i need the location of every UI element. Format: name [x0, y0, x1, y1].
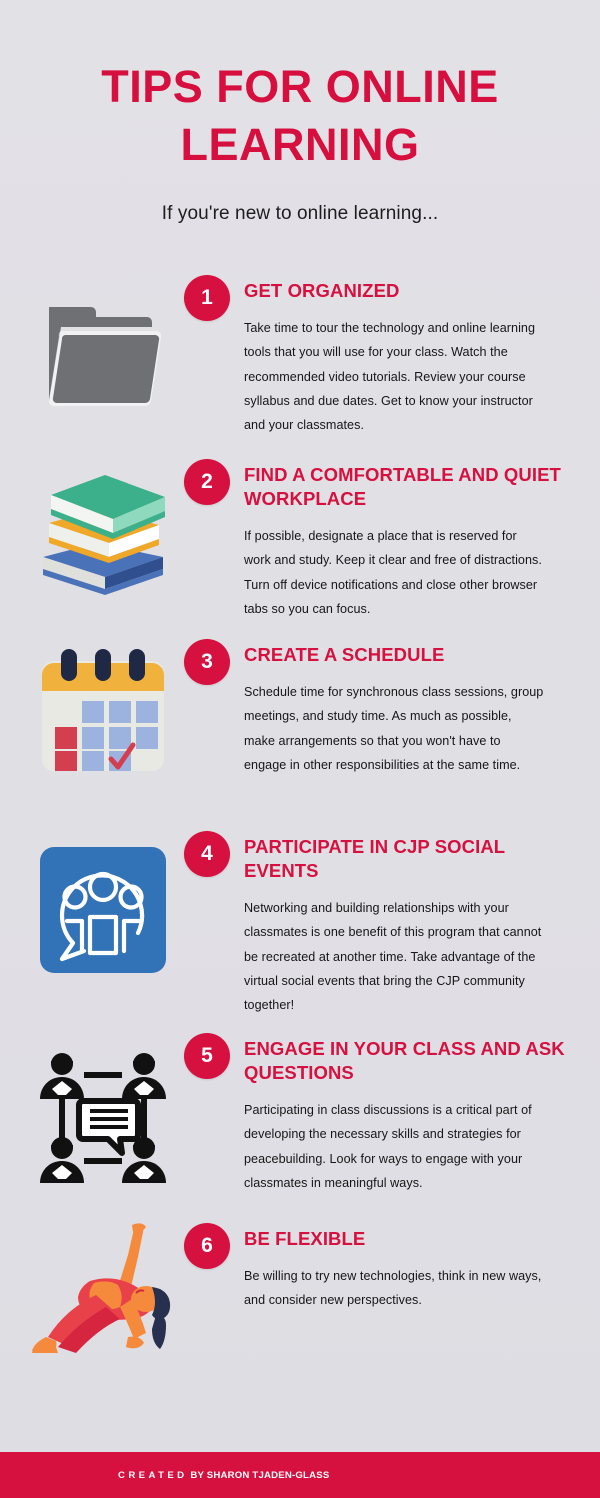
tip-body: GET ORGANIZED Take time to tour the tech… — [244, 267, 570, 437]
tip-number-badge: 2 — [184, 459, 230, 505]
tip-body: PARTICIPATE IN CJP SOCIAL EVENTS Network… — [244, 823, 570, 1017]
poster-header: TIPS FOR ONLINE LEARNING If you're new t… — [0, 0, 600, 225]
yoga-pose-icon — [28, 1221, 178, 1353]
tip-item: 6 BE FLEXIBLE Be willing to try new tech… — [0, 1215, 600, 1375]
tip-description: Be willing to try new technologies, thin… — [244, 1264, 544, 1312]
tip-body: BE FLEXIBLE Be willing to try new techno… — [244, 1215, 570, 1312]
tip-heading: BE FLEXIBLE — [244, 1227, 570, 1251]
tip-item: 1 GET ORGANIZED Take time to tour the te… — [0, 267, 600, 451]
tip-icon-slot — [22, 823, 184, 973]
tip-item: 2 FIND A COMFORTABLE AND QUIET WORKPLACE… — [0, 451, 600, 631]
tip-heading: ENGAGE IN YOUR CLASS AND ASK QUESTIONS — [244, 1037, 570, 1085]
poster-footer: CREATED BY SHARON TJADEN-GLASS — [0, 1452, 600, 1498]
tip-icon-slot — [22, 1025, 184, 1185]
title-line-1: TIPS FOR ONLINE — [101, 61, 499, 112]
books-icon — [35, 465, 171, 595]
tip-body: ENGAGE IN YOUR CLASS AND ASK QUESTIONS P… — [244, 1025, 570, 1195]
title-line-2: LEARNING — [181, 119, 420, 170]
credit-line: CREATED BY SHARON TJADEN-GLASS — [0, 1470, 329, 1481]
tip-icon-slot — [22, 1215, 184, 1353]
tip-icon-slot — [22, 267, 184, 415]
tip-heading: FIND A COMFORTABLE AND QUIET WORKPLACE — [244, 463, 570, 511]
tip-icon-slot — [22, 631, 184, 777]
tip-item: 5 ENGAGE IN YOUR CLASS AND ASK QUESTIONS… — [0, 1025, 600, 1215]
credit-suffix: BY SHARON TJADEN-GLASS — [190, 1470, 329, 1481]
tip-number-badge: 5 — [184, 1033, 230, 1079]
tip-number-badge: 6 — [184, 1223, 230, 1269]
calendar-icon — [36, 645, 170, 777]
tip-item: 4 PARTICIPATE IN CJP SOCIAL EVENTS Netwo… — [0, 823, 600, 1025]
credit-prefix: CREATED — [118, 1470, 187, 1481]
page-title: TIPS FOR ONLINE LEARNING — [40, 58, 560, 173]
tip-number-badge: 1 — [184, 275, 230, 321]
page-subtitle: If you're new to online learning... — [40, 203, 560, 225]
tip-description: Participating in class discussions is a … — [244, 1098, 544, 1195]
tip-description: Take time to tour the technology and onl… — [244, 316, 544, 437]
tip-body: FIND A COMFORTABLE AND QUIET WORKPLACE I… — [244, 451, 570, 621]
tip-number-badge: 3 — [184, 639, 230, 685]
tips-list: 1 GET ORGANIZED Take time to tour the te… — [0, 267, 600, 1498]
infographic-poster: TIPS FOR ONLINE LEARNING If you're new t… — [0, 0, 600, 1498]
tip-heading: CREATE A SCHEDULE — [244, 643, 570, 667]
tip-number-badge: 4 — [184, 831, 230, 877]
tip-icon-slot — [22, 451, 184, 595]
network-discussion-icon — [38, 1049, 168, 1185]
tip-heading: GET ORGANIZED — [244, 279, 570, 303]
social-events-icon — [40, 847, 166, 973]
tip-description: Schedule time for synchronous class sess… — [244, 680, 544, 777]
folder-icon — [39, 297, 167, 415]
tip-body: CREATE A SCHEDULE Schedule time for sync… — [244, 631, 570, 777]
tip-item: 3 CREATE A SCHEDULE Schedule time for sy… — [0, 631, 600, 823]
tip-description: Networking and building relationships wi… — [244, 896, 544, 1017]
tip-description: If possible, designate a place that is r… — [244, 524, 544, 621]
tip-heading: PARTICIPATE IN CJP SOCIAL EVENTS — [244, 835, 570, 883]
